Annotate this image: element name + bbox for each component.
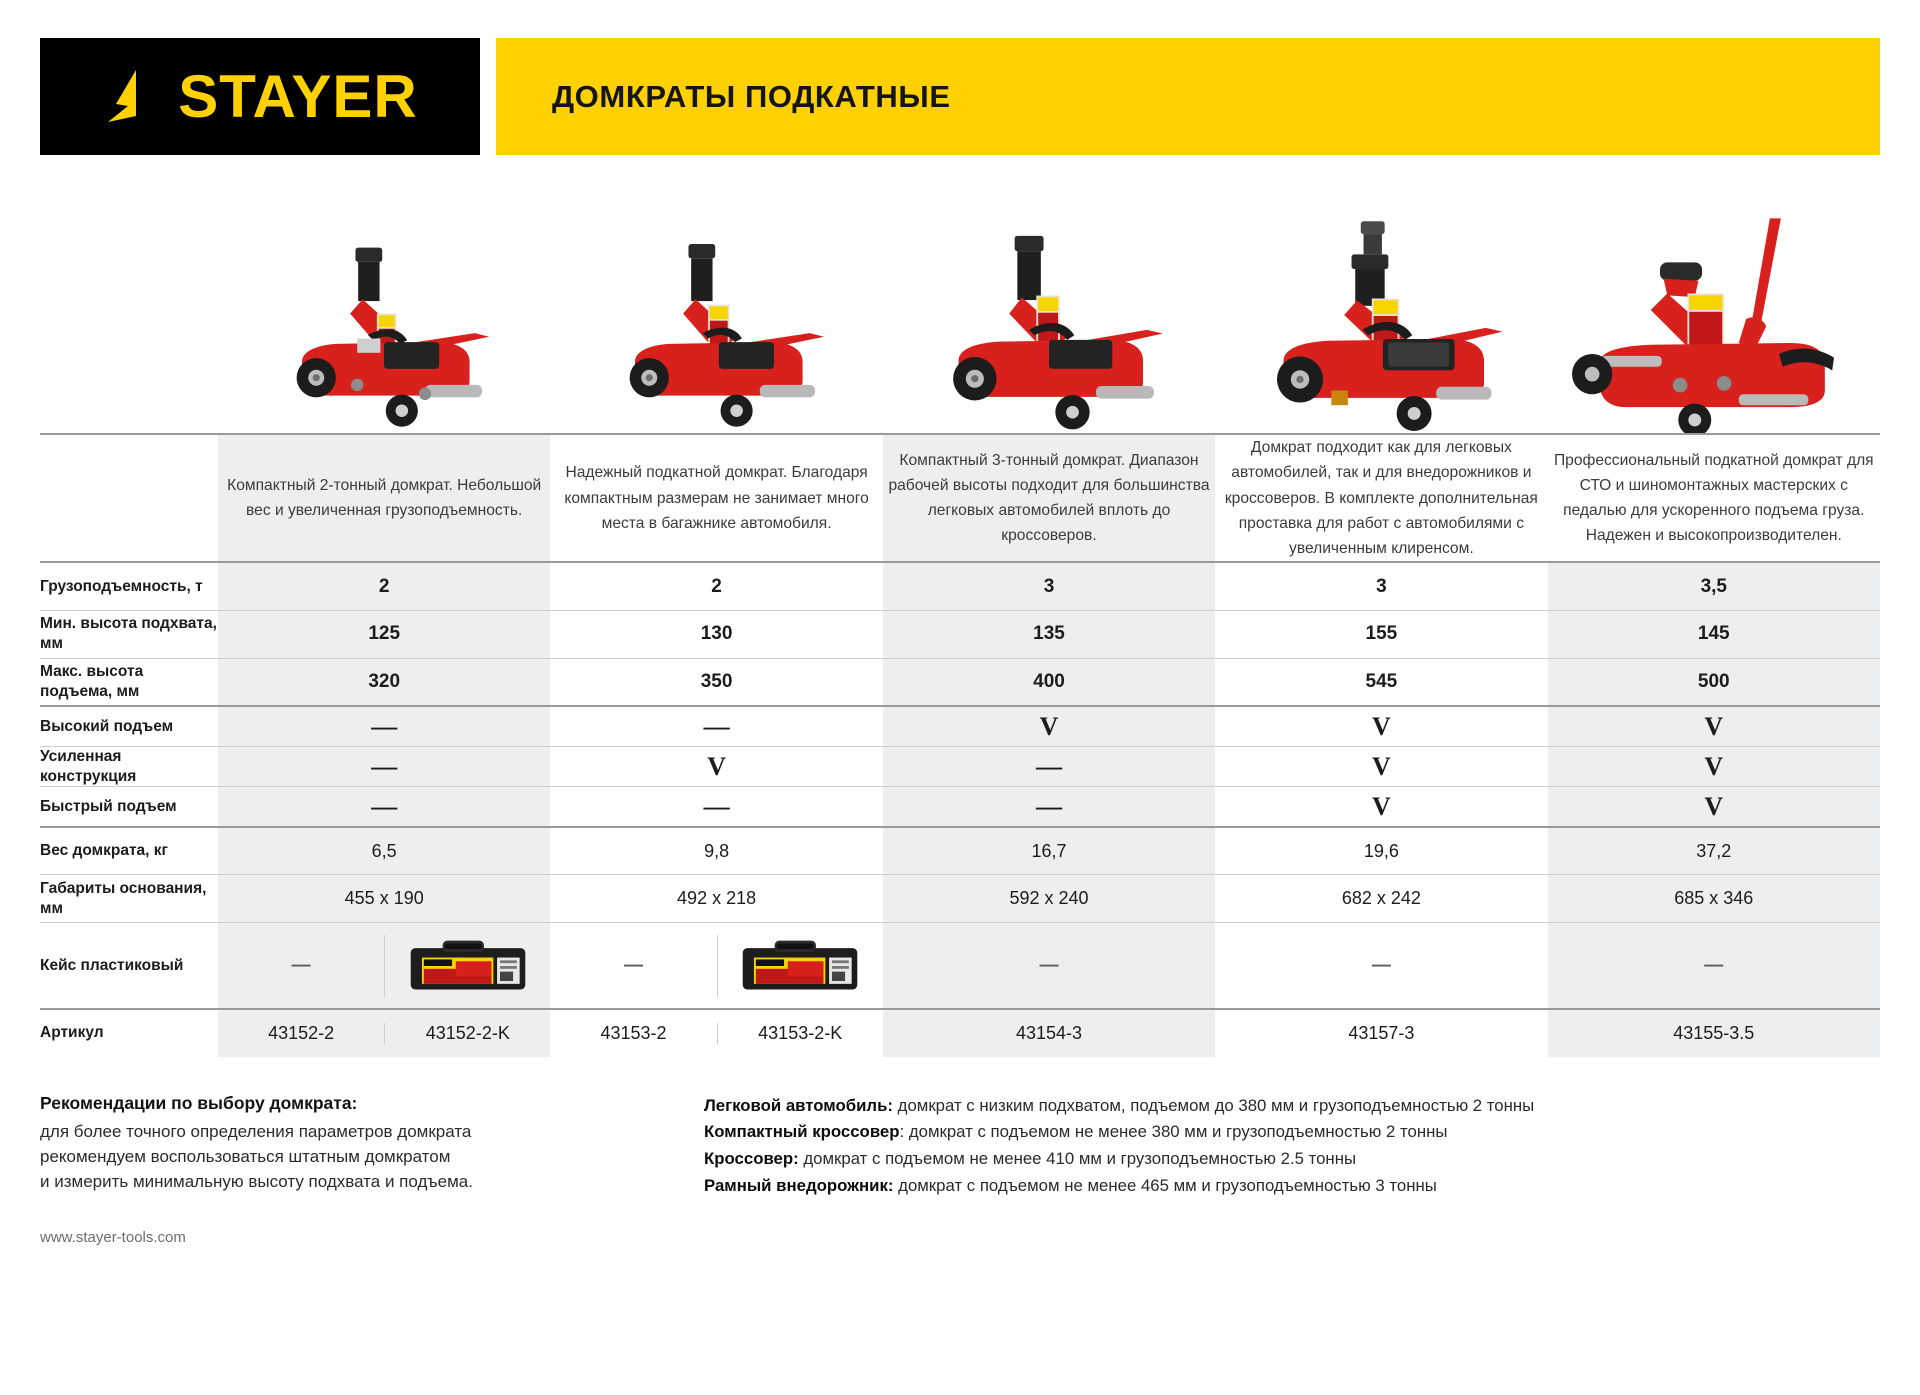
plastic-case-2-image — [717, 935, 883, 997]
advice-line-2: рекомендуем воспользоваться штатным домк… — [40, 1144, 680, 1169]
product-description-1: Компактный 2-тонный домкрат. Небольшой в… — [218, 434, 550, 562]
recommendation-row-3: Кроссовер: домкрат с подъемом не менее 4… — [704, 1146, 1880, 1173]
table-row-min-height: Мин. высота подхвата, мм 125 130 135 155… — [40, 610, 1880, 658]
fast-lift-value-3: — — [883, 787, 1215, 827]
capacity-value-1: 2 — [218, 562, 550, 610]
recommendation-term-2: Компактный кроссовер — [704, 1122, 900, 1141]
row-label-weight: Вес домкрата, кг — [40, 827, 218, 875]
recommendation-row-2: Компактный кроссовер: домкрат с подъемом… — [704, 1119, 1880, 1146]
plastic-case-cell-2: — — [550, 923, 882, 1009]
row-label-min-height: Мин. высота подхвата, мм — [40, 610, 218, 658]
table-row-capacity: Грузоподъемность, т 2 2 3 3 3,5 — [40, 562, 1880, 610]
article-cell-5: 43155-3.5 — [1548, 1009, 1880, 1057]
recommendation-row-4: Рамный внедорожник: домкрат с подъемом н… — [704, 1173, 1880, 1200]
article-cell-2: 43153-2 43153-2-K — [550, 1009, 882, 1057]
reinforced-value-3: — — [883, 746, 1215, 787]
reinforced-value-1: — — [218, 746, 550, 787]
row-label-reinforced: Усиленная конструкция — [40, 746, 218, 787]
article-2-plain: 43153-2 — [550, 1023, 716, 1044]
advice-line-3: и измерить минимальную высоту подхвата и… — [40, 1169, 680, 1194]
capacity-value-2: 2 — [550, 562, 882, 610]
row-label-fast-lift: Быстрый подъем — [40, 787, 218, 827]
high-lift-value-2: — — [550, 706, 882, 746]
recommendation-term-1: Легковой автомобиль: — [704, 1096, 893, 1115]
page-header: STAYER ДОМКРАТЫ ПОДКАТНЫЕ — [40, 38, 1880, 155]
table-row-max-height: Макс. высота подъема, мм 320 350 400 545… — [40, 658, 1880, 706]
header-banner: ДОМКРАТЫ ПОДКАТНЫЕ — [496, 38, 1880, 155]
advice-title: Рекомендации по выбору домкрата: — [40, 1093, 680, 1114]
base-size-value-1: 455 x 190 — [218, 875, 550, 923]
row-label-max-height: Макс. высота подъема, мм — [40, 658, 218, 706]
product-image-2 — [550, 171, 882, 433]
article-2-case: 43153-2-K — [717, 1023, 883, 1044]
product-description-3: Компактный 3-тонный домкрат. Диапазон ра… — [883, 434, 1215, 562]
weight-value-5: 37,2 — [1548, 827, 1880, 875]
max-height-value-5: 500 — [1548, 658, 1880, 706]
base-size-value-5: 685 x 346 — [1548, 875, 1880, 923]
page-title: ДОМКРАТЫ ПОДКАТНЫЕ — [552, 79, 951, 115]
advice-line-1: для более точного определения параметров… — [40, 1119, 680, 1144]
product-image-1 — [218, 171, 550, 433]
capacity-value-3: 3 — [883, 562, 1215, 610]
reinforced-value-4: V — [1215, 746, 1547, 787]
recommendation-term-4: Рамный внедорожник: — [704, 1176, 893, 1195]
floor-jack-2t-icon — [250, 228, 518, 433]
product-row-spacer — [40, 171, 218, 433]
table-row-reinforced: Усиленная конструкция — V — V V — [40, 746, 1880, 787]
table-row-plastic-case: Кейс пластиковый — — [40, 923, 1880, 1009]
plastic-case-icon — [738, 935, 862, 997]
product-description-5: Профессиональный подкатной домкрат для С… — [1548, 434, 1880, 562]
min-height-value-3: 135 — [883, 610, 1215, 658]
plastic-case-1-image — [384, 935, 550, 997]
recommendation-term-3: Кроссовер: — [704, 1149, 799, 1168]
base-size-value-3: 592 x 240 — [883, 875, 1215, 923]
product-description-2: Надежный подкатной домкрат. Благодаря ко… — [550, 434, 882, 562]
recommendation-text-4: домкрат с подъемом не менее 465 мм и гру… — [893, 1176, 1436, 1195]
min-height-value-5: 145 — [1548, 610, 1880, 658]
floor-jack-3-5t-pro-icon — [1572, 209, 1856, 433]
weight-value-1: 6,5 — [218, 827, 550, 875]
website-url[interactable]: www.stayer-tools.com — [40, 1229, 1880, 1246]
article-cell-1: 43152-2 43152-2-K — [218, 1009, 550, 1057]
capacity-value-5: 3,5 — [1548, 562, 1880, 610]
row-label-plastic-case: Кейс пластиковый — [40, 923, 218, 1009]
stayer-triangle-logo-icon — [102, 66, 164, 128]
floor-jack-3t-icon — [913, 225, 1185, 433]
high-lift-value-1: — — [218, 706, 550, 746]
min-height-value-4: 155 — [1215, 610, 1547, 658]
product-image-5 — [1548, 171, 1880, 433]
description-row-label — [40, 434, 218, 562]
recommendation-text-1: домкрат с низким подхватом, подъемом до … — [893, 1096, 1534, 1115]
max-height-value-1: 320 — [218, 658, 550, 706]
row-label-high-lift: Высокий подъем — [40, 706, 218, 746]
base-size-value-2: 492 x 218 — [550, 875, 882, 923]
floor-jack-2t-case-icon — [583, 228, 851, 433]
table-row-fast-lift: Быстрый подъем — — — V V — [40, 787, 1880, 827]
high-lift-value-5: V — [1548, 706, 1880, 746]
floor-jack-3t-high-icon — [1243, 221, 1519, 433]
product-comparison-sheet: STAYER ДОМКРАТЫ ПОДКАТНЫЕ — [0, 38, 1920, 1395]
table-row-high-lift: Высокий подъем — — V V V — [40, 706, 1880, 746]
brand-logo-text: STAYER — [178, 67, 417, 127]
max-height-value-3: 400 — [883, 658, 1215, 706]
base-size-value-4: 682 x 242 — [1215, 875, 1547, 923]
max-height-value-4: 545 — [1215, 658, 1547, 706]
recommendation-text-2: : домкрат с подъемом не менее 380 мм и г… — [900, 1122, 1448, 1141]
high-lift-value-3: V — [883, 706, 1215, 746]
fast-lift-value-1: — — [218, 787, 550, 827]
product-image-row — [40, 171, 1880, 433]
fast-lift-value-5: V — [1548, 787, 1880, 827]
table-row-weight: Вес домкрата, кг 6,5 9,8 16,7 19,6 37,2 — [40, 827, 1880, 875]
article-1-case: 43152-2-K — [384, 1023, 550, 1044]
plastic-case-1-plain: — — [218, 935, 384, 997]
min-height-value-1: 125 — [218, 610, 550, 658]
capacity-value-4: 3 — [1215, 562, 1547, 610]
plastic-case-cell-4: — — [1215, 923, 1547, 1009]
plastic-case-cell-3: — — [883, 923, 1215, 1009]
recommendation-text-3: домкрат с подъемом не менее 410 мм и гру… — [799, 1149, 1356, 1168]
article-1-plain: 43152-2 — [218, 1023, 384, 1044]
fast-lift-value-4: V — [1215, 787, 1547, 827]
brand-logo: STAYER — [40, 38, 480, 155]
row-label-capacity: Грузоподъемность, т — [40, 562, 218, 610]
max-height-value-2: 350 — [550, 658, 882, 706]
plastic-case-cell-5: — — [1548, 923, 1880, 1009]
weight-value-2: 9,8 — [550, 827, 882, 875]
article-cell-4: 43157-3 — [1215, 1009, 1547, 1057]
recommendation-row-1: Легковой автомобиль: домкрат с низким по… — [704, 1093, 1880, 1120]
product-description-4: Домкрат подходит как для легковых автомо… — [1215, 434, 1547, 562]
high-lift-value-4: V — [1215, 706, 1547, 746]
row-label-article: Артикул — [40, 1009, 218, 1057]
table-row-base-size: Габариты основания, мм 455 x 190 492 x 2… — [40, 875, 1880, 923]
advice-block: Рекомендации по выбору домкрата: для бол… — [40, 1093, 680, 1194]
plastic-case-cell-1: — — [218, 923, 550, 1009]
weight-value-4: 19,6 — [1215, 827, 1547, 875]
weight-value-3: 16,7 — [883, 827, 1215, 875]
product-image-4 — [1215, 171, 1547, 433]
plastic-case-icon — [406, 935, 530, 997]
plastic-case-2-plain: — — [550, 935, 716, 997]
article-cell-3: 43154-3 — [883, 1009, 1215, 1057]
min-height-value-2: 130 — [550, 610, 882, 658]
recommendations-block: Легковой автомобиль: домкрат с низким по… — [680, 1093, 1880, 1199]
reinforced-value-5: V — [1548, 746, 1880, 787]
page-footer: Рекомендации по выбору домкрата: для бол… — [40, 1093, 1880, 1199]
row-label-base-size: Габариты основания, мм — [40, 875, 218, 923]
specifications-table: Компактный 2-тонный домкрат. Небольшой в… — [40, 433, 1880, 1057]
table-row-descriptions: Компактный 2-тонный домкрат. Небольшой в… — [40, 434, 1880, 562]
fast-lift-value-2: — — [550, 787, 882, 827]
reinforced-value-2: V — [550, 746, 882, 787]
product-image-3 — [883, 171, 1215, 433]
table-row-article: Артикул 43152-2 43152-2-K 43153-2 43153-… — [40, 1009, 1880, 1057]
